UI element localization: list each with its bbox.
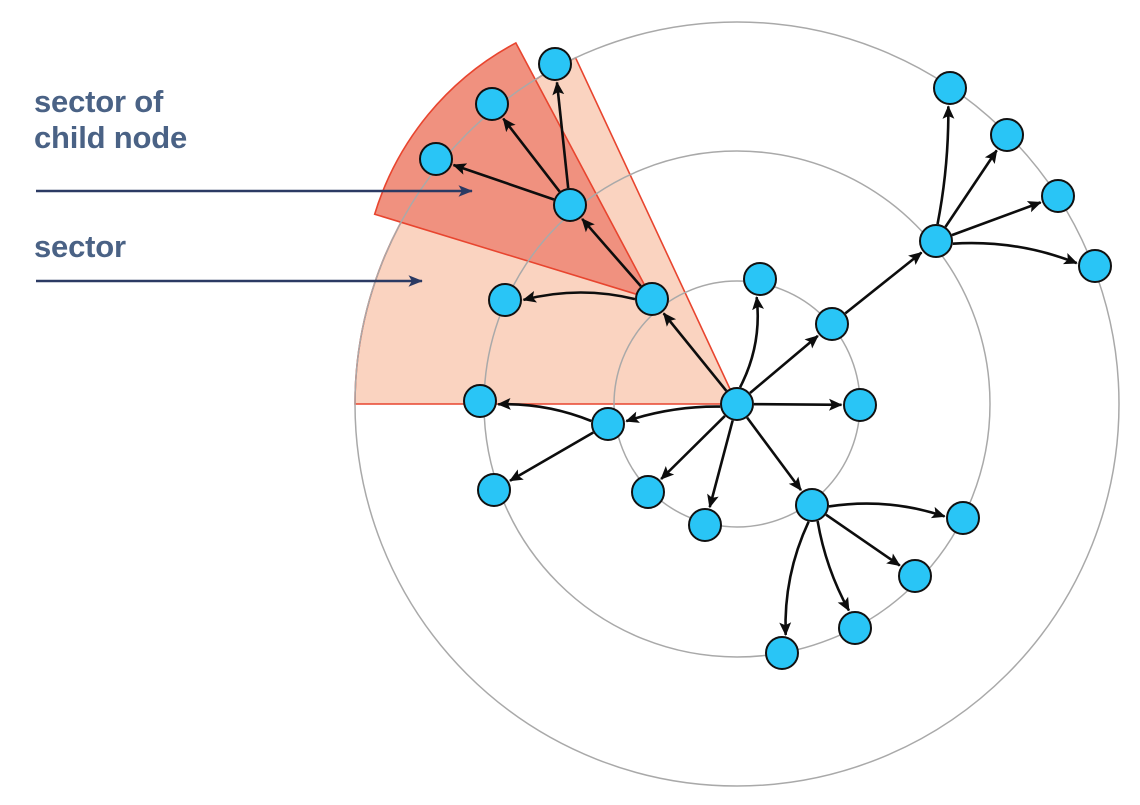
edge-root-to-n2 — [740, 297, 758, 387]
tree-node[interactable] — [464, 385, 496, 417]
tree-node[interactable] — [899, 560, 931, 592]
tree-node[interactable] — [632, 476, 664, 508]
tree-node[interactable] — [816, 308, 848, 340]
tree-node[interactable] — [934, 72, 966, 104]
edge-n11-to-n24 — [953, 243, 1077, 263]
edge-root-to-n6 — [710, 420, 733, 507]
sector-of-child-node-label: sector of child node — [34, 84, 187, 156]
edge-root-to-n3 — [750, 336, 818, 393]
tree-node[interactable] — [476, 88, 508, 120]
root-node[interactable] — [721, 388, 753, 420]
edge-root-to-n4 — [754, 404, 842, 405]
diagram-canvas: sector of child node sector — [0, 0, 1140, 805]
tree-node[interactable] — [420, 143, 452, 175]
tree-node[interactable] — [920, 225, 952, 257]
edge-n5-to-n14 — [829, 504, 945, 517]
edge-n11-to-n21 — [938, 106, 949, 224]
edge-n3-to-n11 — [845, 253, 921, 314]
tree-node[interactable] — [766, 637, 798, 669]
tree-node[interactable] — [539, 48, 571, 80]
edge-n5-to-n15 — [826, 515, 900, 566]
edge-n5-to-n17 — [785, 522, 808, 635]
tree-node[interactable] — [844, 389, 876, 421]
edge-n8-to-n13 — [510, 433, 593, 481]
tree-node[interactable] — [689, 509, 721, 541]
edge-root-to-n5 — [747, 418, 801, 490]
tree-node[interactable] — [744, 263, 776, 295]
edge-root-to-n8 — [626, 407, 720, 422]
tree-node[interactable] — [1042, 180, 1074, 212]
tree-node[interactable] — [478, 474, 510, 506]
tree-node[interactable] — [489, 284, 521, 316]
tree-node[interactable] — [1079, 250, 1111, 282]
tree-node[interactable] — [636, 283, 668, 315]
sector-label: sector — [34, 229, 126, 265]
edge-root-to-n7 — [661, 416, 725, 479]
edge-n8-to-n12 — [498, 404, 591, 421]
tree-node[interactable] — [554, 189, 586, 221]
tree-node[interactable] — [592, 408, 624, 440]
edge-n11-to-n22 — [945, 150, 996, 227]
sector-layer — [355, 43, 737, 404]
tree-node[interactable] — [991, 119, 1023, 151]
edge-n11-to-n23 — [952, 202, 1041, 235]
tree-node[interactable] — [839, 612, 871, 644]
tree-node[interactable] — [796, 489, 828, 521]
tree-node[interactable] — [947, 502, 979, 534]
edge-n5-to-n16 — [818, 521, 849, 610]
